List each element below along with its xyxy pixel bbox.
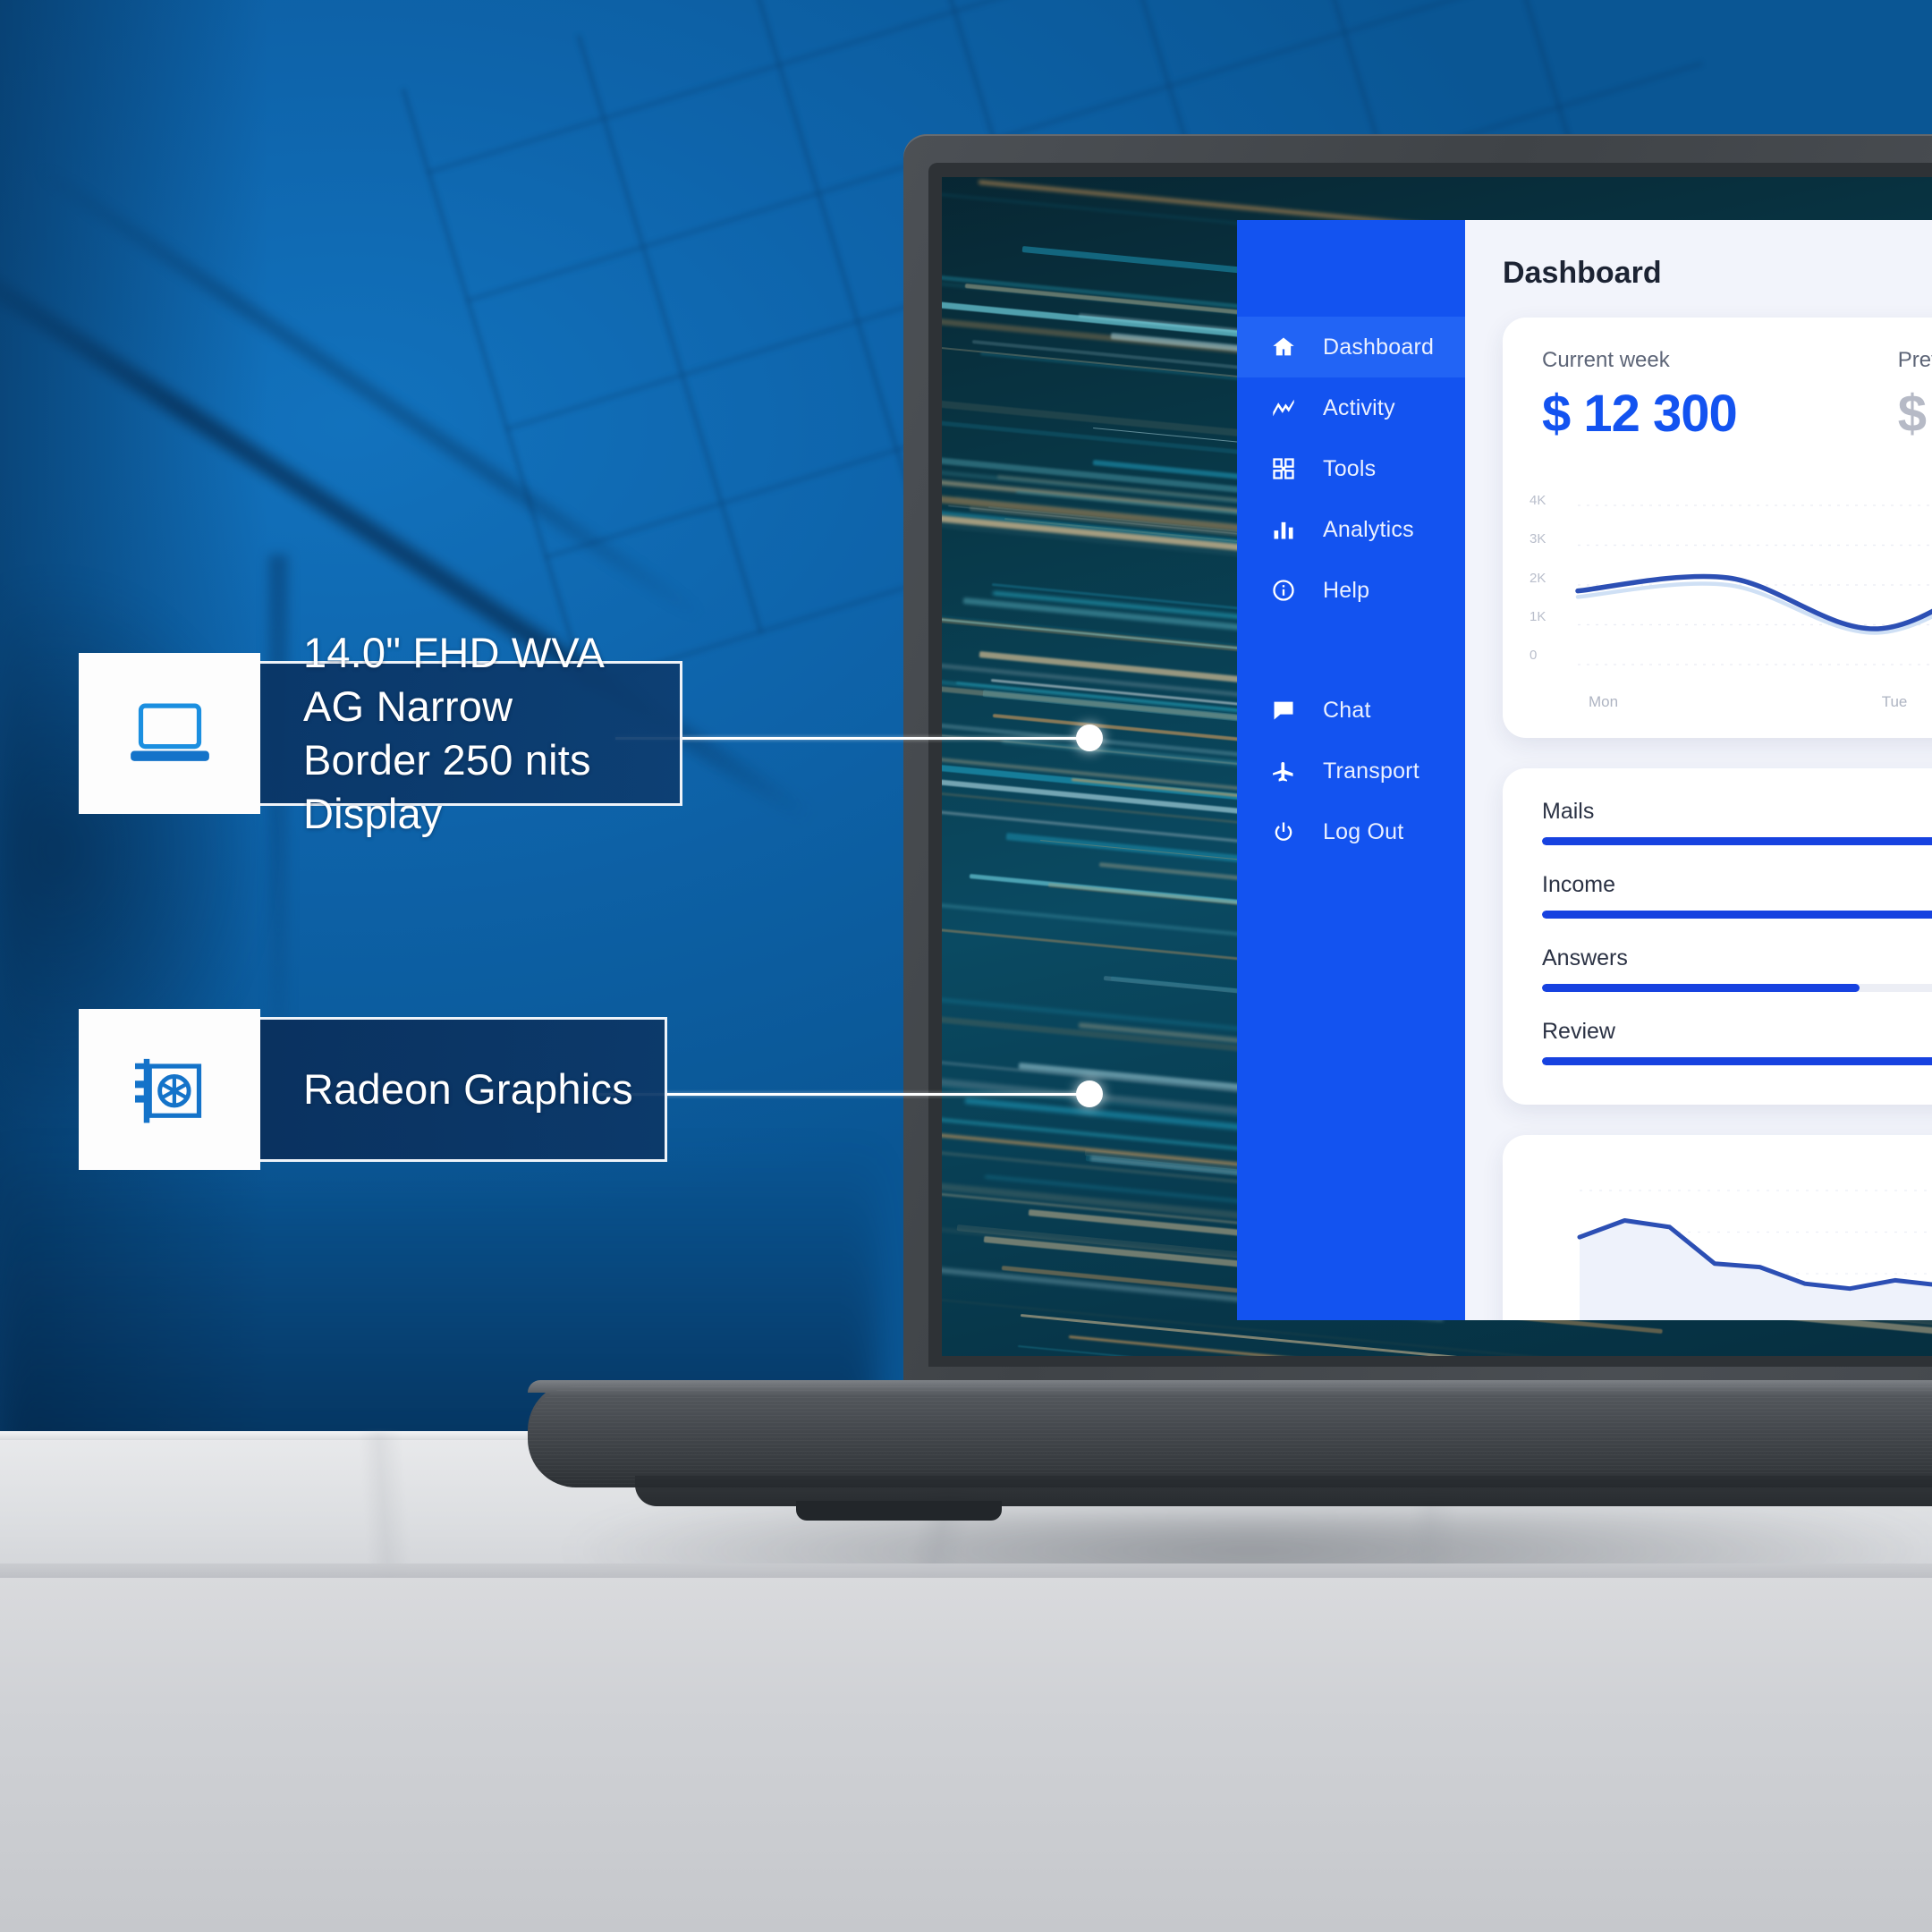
graphics-card-icon-glyph bbox=[123, 1043, 216, 1136]
progress-row: Income 345 bbox=[1542, 872, 1932, 919]
progress-bar-list: Mails 20020 Income 345 Answers 121 bbox=[1542, 799, 1932, 1065]
leader-line-display bbox=[615, 737, 1087, 740]
laptop-icon bbox=[79, 653, 260, 814]
metrics-card: Mails 20020 Income 345 Answers 121 bbox=[1503, 768, 1932, 1105]
y-tick: 1K bbox=[1529, 609, 1565, 624]
table-front-face bbox=[0, 1578, 1932, 1932]
sidebar-item-label: Dashboard bbox=[1323, 335, 1434, 360]
sidebar-item-label: Activity bbox=[1323, 395, 1395, 421]
laptop: Dashboard Activity Tools bbox=[903, 134, 1932, 1529]
x-tick: Mon bbox=[1589, 693, 1618, 711]
sidebar-divider-gap bbox=[1237, 621, 1465, 680]
power-icon bbox=[1269, 818, 1298, 846]
kpi-row: Current week $ 12 300 Previous week $ 10… bbox=[1542, 348, 1932, 444]
sidebar-item-label: Log Out bbox=[1323, 819, 1403, 845]
progress-label: Income bbox=[1542, 872, 1615, 898]
sidebar-item-label: Transport bbox=[1323, 758, 1419, 784]
kpi-value: $ 10 150 bbox=[1898, 384, 1932, 444]
revenue-card: Current week $ 12 300 Previous week $ 10… bbox=[1503, 318, 1932, 738]
progress-track bbox=[1542, 837, 1932, 845]
sidebar-item-help[interactable]: Help bbox=[1237, 560, 1465, 621]
sidebar-item-label: Tools bbox=[1323, 456, 1376, 482]
app-sidebar: Dashboard Activity Tools bbox=[1237, 220, 1465, 1320]
progress-fill bbox=[1542, 837, 1932, 845]
plane-icon bbox=[1269, 757, 1298, 785]
callout-text-box: Radeon Graphics bbox=[260, 1017, 667, 1162]
y-tick: 2K bbox=[1529, 571, 1565, 586]
table-front-band bbox=[0, 1563, 1932, 1578]
tools-icon bbox=[1269, 454, 1298, 483]
progress-label: Review bbox=[1542, 1019, 1615, 1045]
laptop-icon-glyph bbox=[123, 687, 216, 780]
progress-row: Mails 20020 bbox=[1542, 799, 1932, 845]
progress-label: Answers bbox=[1542, 945, 1628, 971]
laptop-base-texture bbox=[528, 1386, 1932, 1485]
sidebar-item-transport[interactable]: Transport bbox=[1237, 741, 1465, 801]
quarterly-line-chart bbox=[1526, 1155, 1932, 1320]
app-content: Dashboard Current week $ 12 300 Previous… bbox=[1465, 220, 1932, 1320]
callout-label: 14.0" FHD WVA AG Narrow Border 250 nits … bbox=[303, 626, 649, 842]
sidebar-item-label: Chat bbox=[1323, 698, 1371, 724]
bar-chart-icon bbox=[1269, 515, 1298, 544]
activity-icon bbox=[1269, 394, 1298, 422]
progress-track bbox=[1542, 984, 1932, 992]
trend-card: Q1Q2Q3Q4Q5 bbox=[1503, 1135, 1932, 1320]
leader-dot-graphics bbox=[1076, 1080, 1103, 1107]
kpi-value: $ 12 300 bbox=[1542, 384, 1737, 444]
y-tick: 3K bbox=[1529, 531, 1565, 547]
kpi-previous-week: Previous week $ 10 150 bbox=[1898, 348, 1932, 444]
laptop-screen: Dashboard Activity Tools bbox=[942, 177, 1932, 1356]
y-tick: 4K bbox=[1529, 493, 1565, 508]
kpi-label: Current week bbox=[1542, 348, 1737, 373]
home-icon bbox=[1269, 333, 1298, 361]
callout-display: 14.0" FHD WVA AG Narrow Border 250 nits … bbox=[79, 653, 682, 814]
y-tick: 0 bbox=[1529, 648, 1565, 663]
laptop-foot bbox=[796, 1501, 1002, 1521]
chat-icon bbox=[1269, 696, 1298, 724]
progress-row: Answers 121 bbox=[1542, 945, 1932, 992]
sidebar-item-analytics[interactable]: Analytics bbox=[1237, 499, 1465, 560]
sidebar-item-chat[interactable]: Chat bbox=[1237, 680, 1465, 741]
chart-y-axis: 4K3K2K1K0 bbox=[1529, 493, 1565, 663]
callout-text-box: 14.0" FHD WVA AG Narrow Border 250 nits … bbox=[260, 661, 682, 806]
leader-dot-display bbox=[1076, 724, 1103, 751]
kpi-label: Previous week bbox=[1898, 348, 1932, 373]
sidebar-item-label: Help bbox=[1323, 578, 1369, 604]
x-tick: Tue bbox=[1882, 693, 1908, 711]
chart-x-axis: MonTueWedThuFri bbox=[1565, 693, 1932, 711]
progress-fill bbox=[1542, 984, 1860, 992]
graphics-card-icon bbox=[79, 1009, 260, 1170]
progress-track bbox=[1542, 911, 1932, 919]
dashboard-app-window: Dashboard Activity Tools bbox=[1237, 220, 1932, 1320]
progress-track bbox=[1542, 1057, 1932, 1065]
kpi-current-week: Current week $ 12 300 bbox=[1542, 348, 1737, 444]
info-icon bbox=[1269, 576, 1298, 605]
sidebar-item-dashboard[interactable]: Dashboard bbox=[1237, 317, 1465, 377]
progress-fill bbox=[1542, 1057, 1932, 1065]
progress-row: Review 80% bbox=[1542, 1019, 1932, 1065]
progress-fill bbox=[1542, 911, 1932, 919]
weekly-line-chart: 4K3K2K1K0 MonTueWedThuFri $ 12 300 bbox=[1526, 493, 1932, 716]
progress-label: Mails bbox=[1542, 799, 1594, 825]
callout-graphics: Radeon Graphics bbox=[79, 1009, 667, 1170]
page-title: Dashboard bbox=[1503, 256, 1932, 291]
sidebar-item-tools[interactable]: Tools bbox=[1237, 438, 1465, 499]
sidebar-item-label: Analytics bbox=[1323, 517, 1414, 543]
sidebar-item-activity[interactable]: Activity bbox=[1237, 377, 1465, 438]
leader-line-graphics bbox=[597, 1093, 1087, 1096]
callout-label: Radeon Graphics bbox=[303, 1063, 633, 1116]
sidebar-item-logout[interactable]: Log Out bbox=[1237, 801, 1465, 862]
